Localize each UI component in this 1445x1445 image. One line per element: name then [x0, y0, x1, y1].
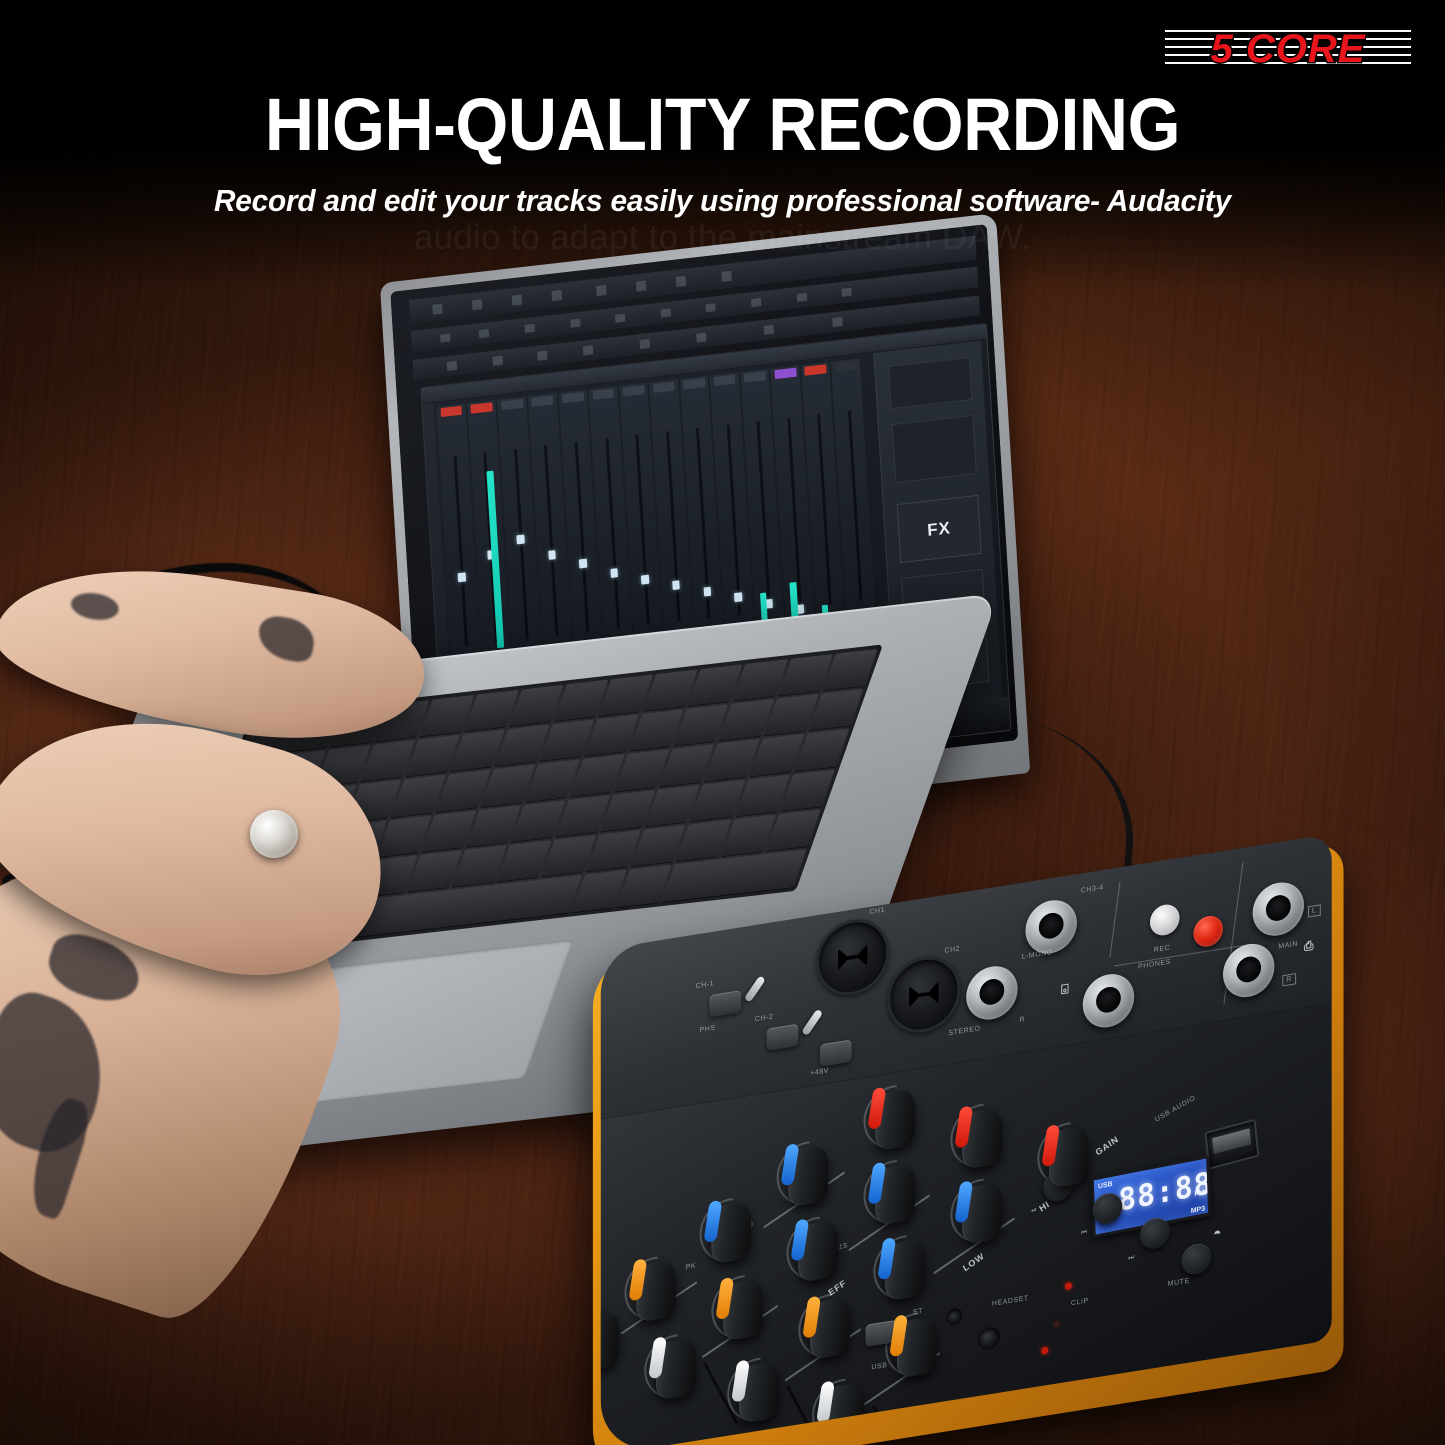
usb-label: USB — [871, 1362, 887, 1372]
rec-label: REC — [1154, 944, 1170, 954]
lmono-label: L-MONO — [1022, 949, 1053, 961]
play-pause-icon: ⏯ — [1031, 1206, 1037, 1215]
lcd-value: 88:88 — [1118, 1173, 1188, 1217]
rec-rca-left[interactable] — [1150, 902, 1180, 937]
hi-eq-knob-ch2[interactable] — [875, 1163, 915, 1226]
hi-row-label: HI — [1038, 1199, 1052, 1213]
signal-led — [1053, 1320, 1060, 1328]
headphone-icon: ⌻ — [1061, 981, 1069, 999]
phantom-power-button[interactable] — [820, 1039, 852, 1066]
phs-label: PHS — [700, 1025, 716, 1035]
mic-jack[interactable] — [946, 1307, 962, 1326]
low-eq-knob-ch1[interactable] — [711, 1201, 751, 1264]
main-right-indicator: R — [1282, 973, 1295, 986]
lcd-tag-mp3: MP3 — [1191, 1205, 1205, 1215]
main-label: MAIN — [1278, 940, 1298, 950]
mute-label: MUTE — [1168, 1277, 1190, 1288]
eff-knob-ch1[interactable] — [636, 1260, 676, 1323]
toggle-ch1[interactable] — [744, 975, 766, 1002]
next-icon: ⏭ — [1128, 1254, 1135, 1263]
low-row-label: LOW — [961, 1251, 986, 1273]
switch-ch2[interactable] — [767, 1024, 799, 1051]
usb-audio-port[interactable] — [1204, 1119, 1259, 1170]
phones-output-jack[interactable] — [1083, 970, 1134, 1031]
peak-led — [1041, 1346, 1048, 1354]
eff-knob-ch4[interactable] — [897, 1316, 937, 1379]
trs-input-lmono[interactable] — [966, 963, 1017, 1024]
hi-eq-knob-ch1[interactable] — [788, 1144, 828, 1207]
main-output-left[interactable] — [1253, 879, 1304, 940]
page-subtitle: Record and edit your tracks easily using… — [29, 183, 1416, 219]
level-knob-ch1[interactable] — [601, 1309, 619, 1372]
page-title: HIGH-QUALITY RECORDING — [58, 88, 1387, 162]
clip-led — [1065, 1282, 1072, 1290]
r-label: R — [1020, 1016, 1026, 1024]
mixer-control-surface: CH1 CH2 CH-1 PHS CH-2 +48V CH3-4 L-MO — [601, 834, 1332, 1445]
dc-power-icon: ⎙ — [1304, 938, 1314, 955]
phantom-power-label: +48V — [810, 1067, 829, 1077]
switch-ch1[interactable] — [709, 990, 741, 1017]
headset-jack[interactable] — [978, 1326, 1000, 1352]
ghost-watermark-text: audio to adapt to the mainstream DAW. — [0, 218, 1445, 258]
stereo-label: STEREO — [948, 1025, 980, 1037]
ring — [250, 810, 298, 858]
gain-knob-ch3[interactable] — [1049, 1125, 1089, 1188]
mixer-input-panel: CH1 CH2 CH-1 PHS CH-2 +48V CH3-4 L-MO — [601, 834, 1332, 1120]
ch34-label: CH3-4 — [1081, 884, 1104, 895]
ch2-label: CH2 — [945, 945, 961, 955]
level-knob-ch3[interactable] — [739, 1361, 779, 1424]
switch-ch2-label: CH-2 — [755, 1013, 774, 1023]
wireless-icon: ◓ — [1213, 1224, 1222, 1242]
audio-mixer-device: CH1 CH2 CH-1 PHS CH-2 +48V CH3-4 L-MO — [570, 862, 1400, 1445]
xlr-input-ch2[interactable] — [887, 951, 960, 1037]
gain-knob-ch1[interactable] — [875, 1088, 915, 1151]
ch1-label: CH1 — [869, 907, 885, 917]
scale-pk: PK — [686, 1263, 696, 1272]
low-eq-knob-ch3[interactable] — [885, 1238, 925, 1301]
lcd-tag-usb: USB — [1098, 1181, 1113, 1191]
toggle-ch2[interactable] — [801, 1009, 823, 1036]
main-left-indicator: L — [1308, 904, 1320, 917]
level-knob-ch2[interactable] — [656, 1338, 696, 1401]
gain-knob-ch2[interactable] — [962, 1107, 1002, 1170]
product-banner: FX MacBook Pro — [0, 0, 1445, 1445]
eff-knob-ch3[interactable] — [810, 1297, 850, 1360]
logo-text: 5 CORE — [1157, 18, 1419, 80]
hi-eq-knob-ch3[interactable] — [962, 1182, 1002, 1245]
usb-audio-label: USB AUDIO — [1154, 1095, 1196, 1124]
banner-header: 5 CORE audio to adapt to the mainstream … — [0, 0, 1445, 250]
rec-rca-right[interactable] — [1193, 914, 1223, 949]
clip-label: CLIP — [1071, 1298, 1089, 1308]
gain-row-label: GAIN — [1094, 1134, 1120, 1157]
low-eq-knob-ch2[interactable] — [798, 1220, 838, 1283]
headset-label: HEADSET — [992, 1295, 1029, 1308]
switch-ch1-label: CH-1 — [696, 980, 715, 990]
xlr-input-ch1[interactable] — [816, 914, 889, 1000]
fx-label: FX — [897, 495, 981, 563]
brand-logo: 5 CORE — [1157, 18, 1419, 80]
eff-knob-ch2[interactable] — [723, 1278, 763, 1341]
mode-button[interactable] — [1182, 1242, 1212, 1277]
prev-icon: ⏮ — [1081, 1229, 1088, 1238]
